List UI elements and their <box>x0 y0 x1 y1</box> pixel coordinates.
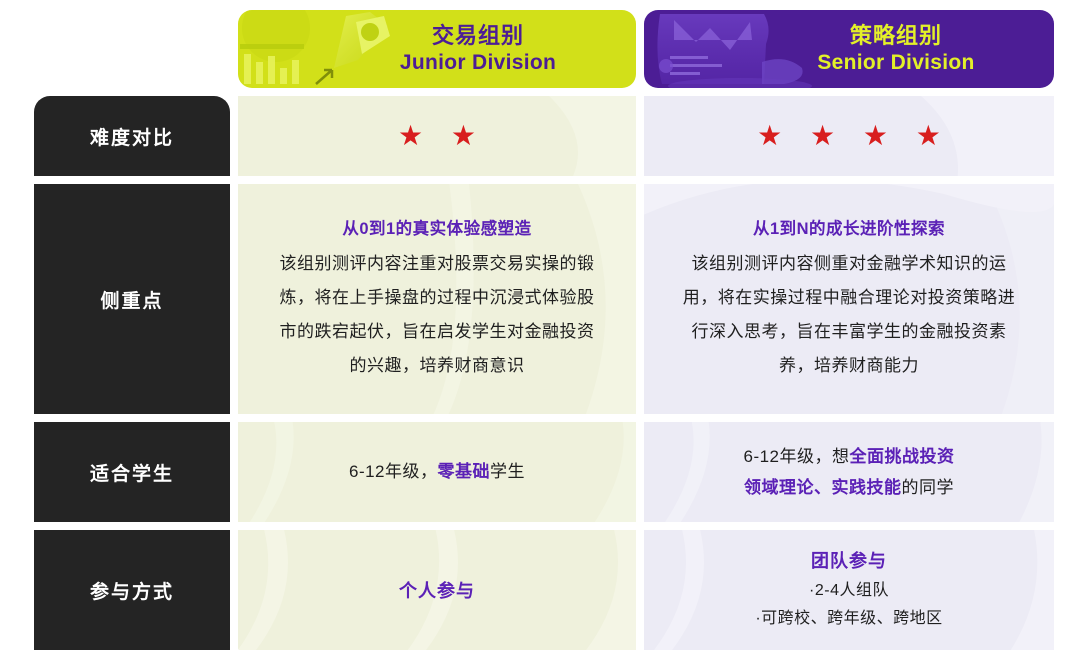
row-label-target-students: 适合学生 <box>34 422 230 522</box>
cell-junior-difficulty: ★ ★ <box>238 96 636 176</box>
junior-target-students-text: 6-12年级，零基础学生 <box>272 456 602 487</box>
header-junior-title-cn: 交易组别 <box>348 23 608 48</box>
cell-senior-difficulty: ★ ★ ★ ★ <box>644 96 1054 176</box>
senior-target-students-line1: 6-12年级，想全面挑战投资 <box>678 441 1020 472</box>
senior-focus-lead: 从1到N的成长进阶性探索 <box>678 215 1020 239</box>
row-label-difficulty: 难度对比 <box>34 96 230 176</box>
cell-senior-target-students: 6-12年级，想全面挑战投资 领域理论、实践技能的同学 <box>644 422 1054 522</box>
senior-focus-paragraph: 该组别测评内容侧重对金融学术知识的运用，将在实操过程中融合理论对投资策略进行深入… <box>678 247 1020 383</box>
senior-target-line1-highlight: 全面挑战投资 <box>850 447 955 466</box>
senior-target-line1-prefix: 6-12年级，想 <box>743 447 849 466</box>
senior-participation-title: 团队参与 <box>678 547 1020 573</box>
junior-focus-paragraph: 该组别测评内容注重对股票交易实操的锻炼，将在上手操盘的过程中沉浸式体验股市的跌宕… <box>272 247 602 383</box>
senior-participation-bullet-2: ·可跨校、跨年级、跨地区 <box>678 605 1020 633</box>
cell-junior-target-students: 6-12年级，零基础学生 <box>238 422 636 522</box>
cell-junior-participation: 个人参与 <box>238 530 636 650</box>
senior-participation-bullet-1: ·2-4人组队 <box>678 577 1020 605</box>
senior-difficulty-stars: ★ ★ ★ ★ <box>678 122 1020 150</box>
junior-target-highlight: 零基础 <box>438 462 491 481</box>
header-senior-title-en: Senior Division <box>766 51 1026 75</box>
row-label-participation: 参与方式 <box>34 530 230 650</box>
row-label-focus: 侧重点 <box>34 184 230 414</box>
junior-target-prefix: 6-12年级， <box>349 462 438 481</box>
senior-target-line2-suffix: 的同学 <box>902 478 955 497</box>
senior-target-students-line2: 领域理论、实践技能的同学 <box>678 472 1020 503</box>
header-senior-division: 策略组别 Senior Division <box>644 10 1054 88</box>
header-senior-title-cn: 策略组别 <box>766 23 1026 48</box>
senior-target-line2-highlight: 领域理论、实践技能 <box>744 478 902 497</box>
header-junior-title-en: Junior Division <box>348 51 608 75</box>
junior-target-suffix: 学生 <box>490 462 525 481</box>
junior-difficulty-stars: ★ ★ <box>272 122 602 150</box>
cell-senior-focus: 从1到N的成长进阶性探索 该组别测评内容侧重对金融学术知识的运用，将在实操过程中… <box>644 184 1054 414</box>
junior-focus-lead: 从0到1的真实体验感塑造 <box>272 215 602 239</box>
comparison-table: 交易组别 Junior Division <box>0 0 1080 670</box>
cell-senior-participation: 团队参与 ·2-4人组队 ·可跨校、跨年级、跨地区 <box>644 530 1054 650</box>
cell-junior-focus: 从0到1的真实体验感塑造 该组别测评内容注重对股票交易实操的锻炼，将在上手操盘的… <box>238 184 636 414</box>
header-junior-division: 交易组别 Junior Division <box>238 10 636 88</box>
junior-participation-title: 个人参与 <box>272 577 602 603</box>
